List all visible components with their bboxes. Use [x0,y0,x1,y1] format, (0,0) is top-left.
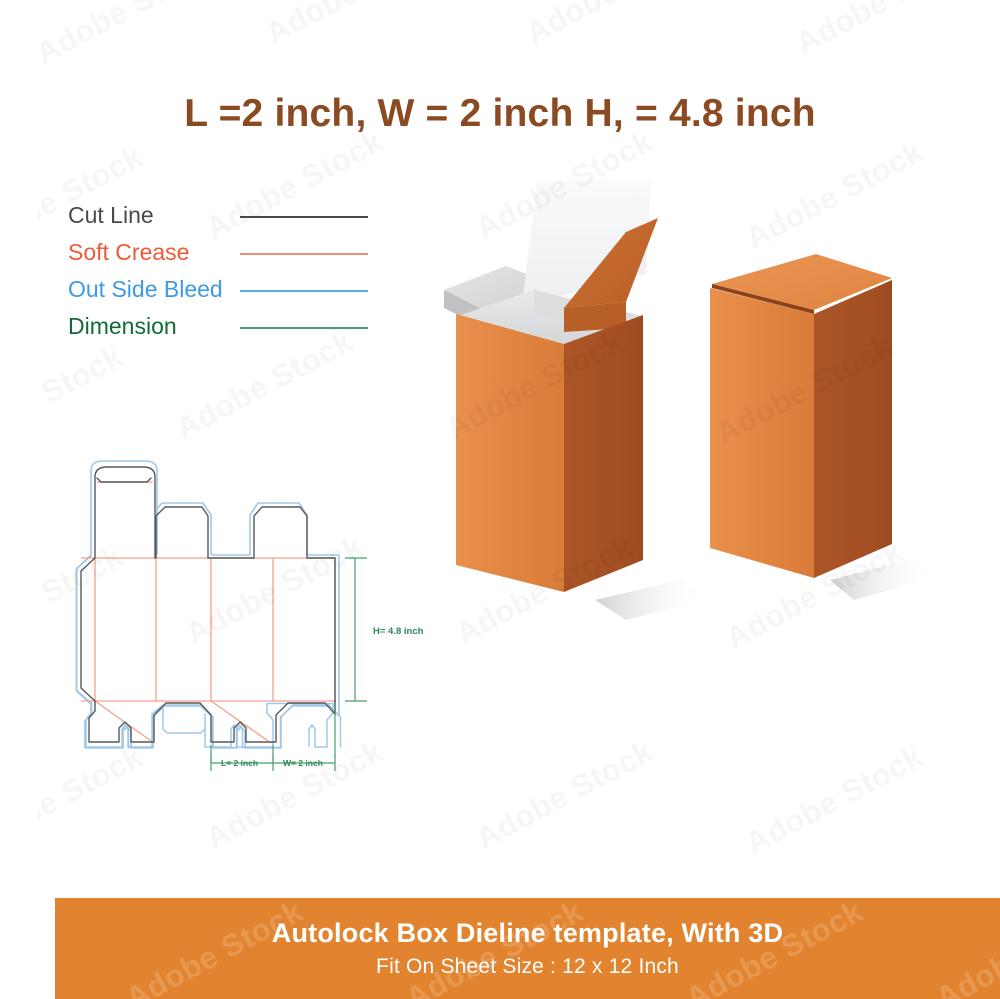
legend-item-soft-crease: Soft Crease [68,239,368,276]
open-box-front-face [456,314,564,592]
open-autolock-box-3d [444,180,710,620]
legend-swatch-dimension [240,327,368,329]
watermark-text: Adobe Stock [790,0,979,62]
dimension-label-width: W= 2 inch [283,758,323,768]
watermark-text: Adobe Stock [470,733,659,856]
legend: Cut Line Soft Crease Out Side Bleed Dime… [68,202,368,350]
watermark-text: Adobe Stock [520,0,709,52]
legend-label-out-side-bleed: Out Side Bleed [68,276,223,302]
closed-autolock-box-3d [710,254,938,600]
bleed-outline-envelope [77,461,340,748]
box-3d-renders [430,180,990,660]
bottom-banner: Autolock Box Dieline template, With 3D F… [55,898,1000,999]
closed-box-shadow [830,560,938,600]
open-box-shadow [595,580,710,620]
legend-item-dimension: Dimension [68,313,368,350]
legend-swatch-cut-line [240,216,368,218]
dimension-label-height: H= 4.8 inch [373,626,424,637]
banner-title: Autolock Box Dieline template, With 3D [272,918,783,949]
dieline-drawing: H= 4.8 inch L= 2 inch W= 2 inch [55,445,425,805]
page-title: L =2 inch, W = 2 inch H, = 4.8 inch [0,92,1000,136]
watermark-text: Adobe Stock [30,0,219,72]
watermark-text: Adobe Stock [740,738,929,861]
closed-box-front-face [710,288,814,578]
left-margin-strip [0,0,38,999]
legend-swatch-out-side-bleed [240,290,368,292]
legend-label-soft-crease: Soft Crease [68,239,189,265]
banner-subtitle: Fit On Sheet Size : 12 x 12 Inch [376,955,679,979]
legend-label-cut-line: Cut Line [68,202,154,228]
legend-item-out-side-bleed: Out Side Bleed [68,276,368,313]
legend-label-dimension: Dimension [68,313,177,339]
bleed-outline [77,556,341,748]
legend-swatch-soft-crease [240,253,368,255]
open-box-right-face [564,315,643,592]
closed-box-right-face [814,280,892,578]
legend-item-cut-line: Cut Line [68,202,368,239]
watermark-text: Adobe Stock [260,0,449,52]
artboard: L =2 inch, W = 2 inch H, = 4.8 inch Cut … [0,0,1000,999]
